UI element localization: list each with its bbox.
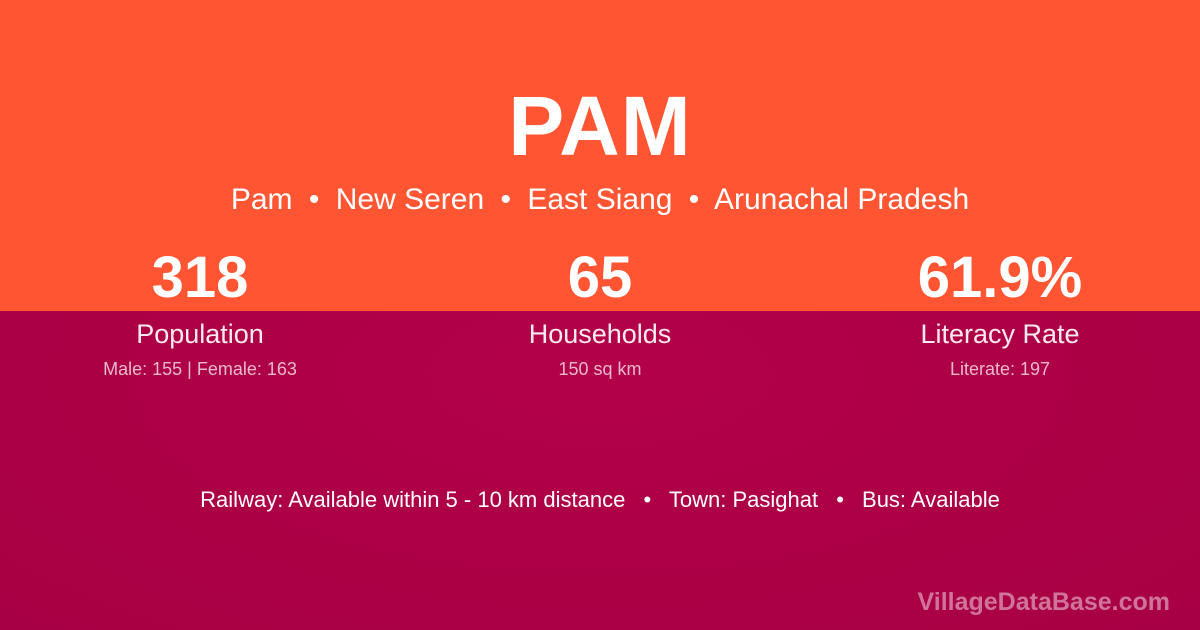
breadcrumb-subdistrict: New Seren (336, 183, 484, 216)
stat-households-label: Households (400, 318, 800, 350)
breadcrumb-separator-2: • (492, 183, 519, 216)
breadcrumb-state: Arunachal Pradesh (714, 183, 969, 216)
breadcrumb: Pam • New Seren • East Siang • Arunachal… (0, 180, 1200, 220)
stat-population-label: Population (0, 318, 400, 350)
transport-railway: Railway: Available within 5 - 10 km dist… (200, 487, 625, 512)
stats-row: 318 Population Male: 155 | Female: 163 6… (0, 245, 1200, 380)
transport-town: Town: Pasighat (669, 487, 818, 512)
transport-info: Railway: Available within 5 - 10 km dist… (0, 486, 1200, 514)
stat-households-detail: 150 sq km (400, 358, 800, 380)
stat-households-value: 65 (400, 245, 800, 311)
stat-households: 65 Households 150 sq km (400, 245, 800, 380)
transport-separator-1: • (631, 487, 663, 512)
breadcrumb-separator-1: • (301, 183, 328, 216)
stat-literacy-rate-value: 61.9% (800, 245, 1200, 311)
stat-population-detail: Male: 155 | Female: 163 (0, 358, 400, 380)
site-watermark: VillageDataBase.com (918, 587, 1170, 617)
stat-literacy-rate: 61.9% Literacy Rate Literate: 197 (800, 245, 1200, 380)
stat-literacy-rate-detail: Literate: 197 (800, 358, 1200, 380)
transport-bus: Bus: Available (862, 487, 1000, 512)
breadcrumb-district: East Siang (527, 183, 672, 216)
stat-population: 318 Population Male: 155 | Female: 163 (0, 245, 400, 380)
transport-separator-2: • (824, 487, 856, 512)
stat-literacy-rate-label: Literacy Rate (800, 318, 1200, 350)
stat-population-value: 318 (0, 245, 400, 311)
page-title: PAM (0, 78, 1200, 174)
village-info-card: PAM Pam • New Seren • East Siang • Aruna… (0, 0, 1200, 630)
breadcrumb-village: Pam (231, 183, 293, 216)
breadcrumb-separator-3: • (681, 183, 708, 216)
